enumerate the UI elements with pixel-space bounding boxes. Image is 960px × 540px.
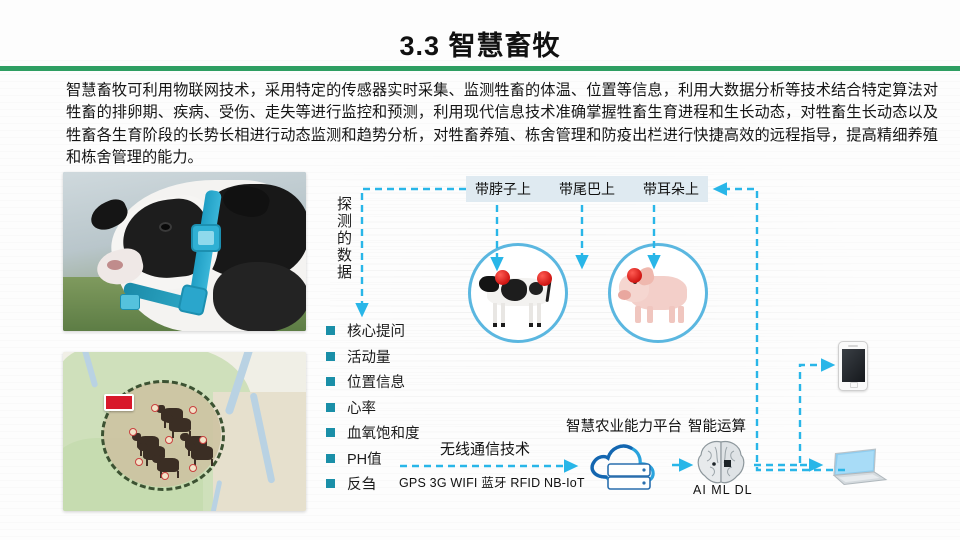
bullet-square-icon <box>326 403 335 412</box>
bullet-square-icon <box>326 454 335 463</box>
list-item: 血氧饱和度 <box>326 420 420 446</box>
detected-data-label: 探测的数据 <box>332 196 354 281</box>
title-divider <box>0 66 960 71</box>
smartphone-icon <box>838 341 868 391</box>
bullet-square-icon <box>326 428 335 437</box>
metric-label: 位置信息 <box>347 371 405 392</box>
collar-sensor-icon-3 <box>120 294 140 310</box>
sensor-position-label-0: 带脖子上 <box>475 179 531 199</box>
bullet-square-icon <box>326 352 335 361</box>
metric-label: 核心提问 <box>347 320 405 341</box>
cloud-platform-icon <box>586 437 664 493</box>
list-item: 活动量 <box>326 344 420 370</box>
metric-label: 反刍 <box>347 473 376 494</box>
detected-metrics-list: 核心提问 活动量 位置信息 心率 血氧饱和度 PH值 反刍 <box>326 318 420 497</box>
smart-compute-title: 智能运算 <box>688 415 746 436</box>
sensor-dot-tail <box>537 271 552 286</box>
wireless-tech-title: 无线通信技术 <box>440 438 530 459</box>
metric-label: 血氧饱和度 <box>347 422 420 443</box>
collar-sensor-icon <box>191 224 221 252</box>
bullet-square-icon <box>326 326 335 335</box>
list-item: 心率 <box>326 395 420 421</box>
bullet-square-icon <box>326 479 335 488</box>
list-item: 位置信息 <box>326 369 420 395</box>
page-title: 3.3 智慧畜牧 <box>0 24 960 63</box>
list-item: 核心提问 <box>326 318 420 344</box>
map-photo <box>63 352 306 511</box>
slide-root: 3.3 智慧畜牧 智慧畜牧可利用物联网技术，采用特定的传感器实时采集、监测牲畜的… <box>0 0 960 540</box>
sensor-dot-neck <box>495 270 510 285</box>
cow-sensor-diagram <box>468 243 568 343</box>
bullet-square-icon <box>326 377 335 386</box>
sensor-position-label-bar: 带脖子上 带尾巴上 带耳朵上 <box>466 176 708 202</box>
cow-photo <box>63 172 306 331</box>
cloud-platform-title: 智慧农业能力平台 <box>566 415 682 436</box>
metric-label: 活动量 <box>347 346 391 367</box>
list-item: PH值 <box>326 446 420 472</box>
metric-label: 心率 <box>347 397 376 418</box>
pig-sensor-diagram <box>608 243 708 343</box>
metric-label: PH值 <box>347 448 382 469</box>
wireless-tech-list: GPS 3G WIFI 蓝牙 RFID NB-IoT <box>399 472 585 491</box>
map-marker-label <box>104 394 134 411</box>
sensor-dot-ear <box>627 268 642 283</box>
body-paragraph: 智慧畜牧可利用物联网技术，采用特定的传感器实时采集、监测牲畜的体温、位置等信息，… <box>66 80 938 169</box>
laptop-icon <box>827 443 891 493</box>
brain-icon <box>694 437 748 487</box>
sensor-position-label-1: 带尾巴上 <box>559 179 615 199</box>
sensor-position-label-2: 带耳朵上 <box>643 179 699 199</box>
